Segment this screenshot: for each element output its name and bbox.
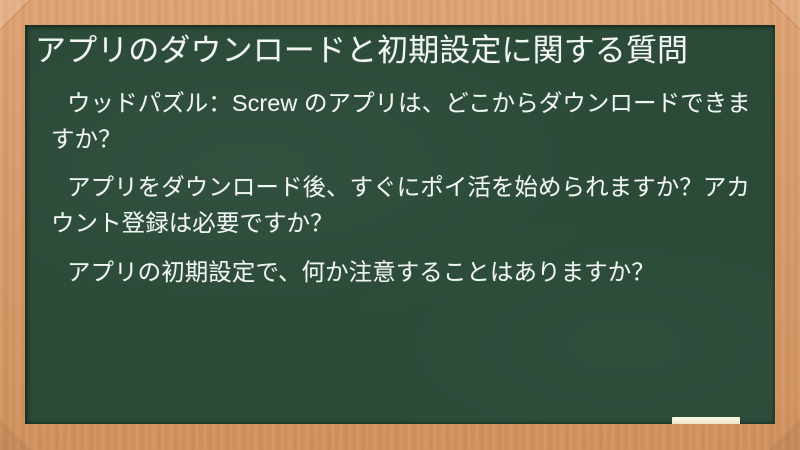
page-title: アプリのダウンロードと初期設定に関する質問 xyxy=(35,29,763,73)
list-item: アプリの初期設定で、何か注意することはありますか？ xyxy=(51,255,753,291)
frame-corner-bottom-right xyxy=(770,420,800,450)
faq-question-list: ウッドパズル：Screw のアプリは、どこからダウンロードできますか？ アプリを… xyxy=(35,86,763,291)
chalkboard-text-content: アプリのダウンロードと初期設定に関する質問 ウッドパズル：Screw のアプリは… xyxy=(25,25,775,291)
chalk-stick xyxy=(672,417,740,424)
chalkboard-wooden-frame: アプリのダウンロードと初期設定に関する質問 ウッドパズル：Screw のアプリは… xyxy=(0,0,800,450)
frame-corner-bottom-left xyxy=(0,420,30,450)
list-item: ウッドパズル：Screw のアプリは、どこからダウンロードできますか？ xyxy=(51,86,753,157)
chalkboard-surface: アプリのダウンロードと初期設定に関する質問 ウッドパズル：Screw のアプリは… xyxy=(25,25,775,424)
list-item: アプリをダウンロード後、すぐにポイ活を始められますか？アカウント登録は必要ですか… xyxy=(51,170,753,241)
